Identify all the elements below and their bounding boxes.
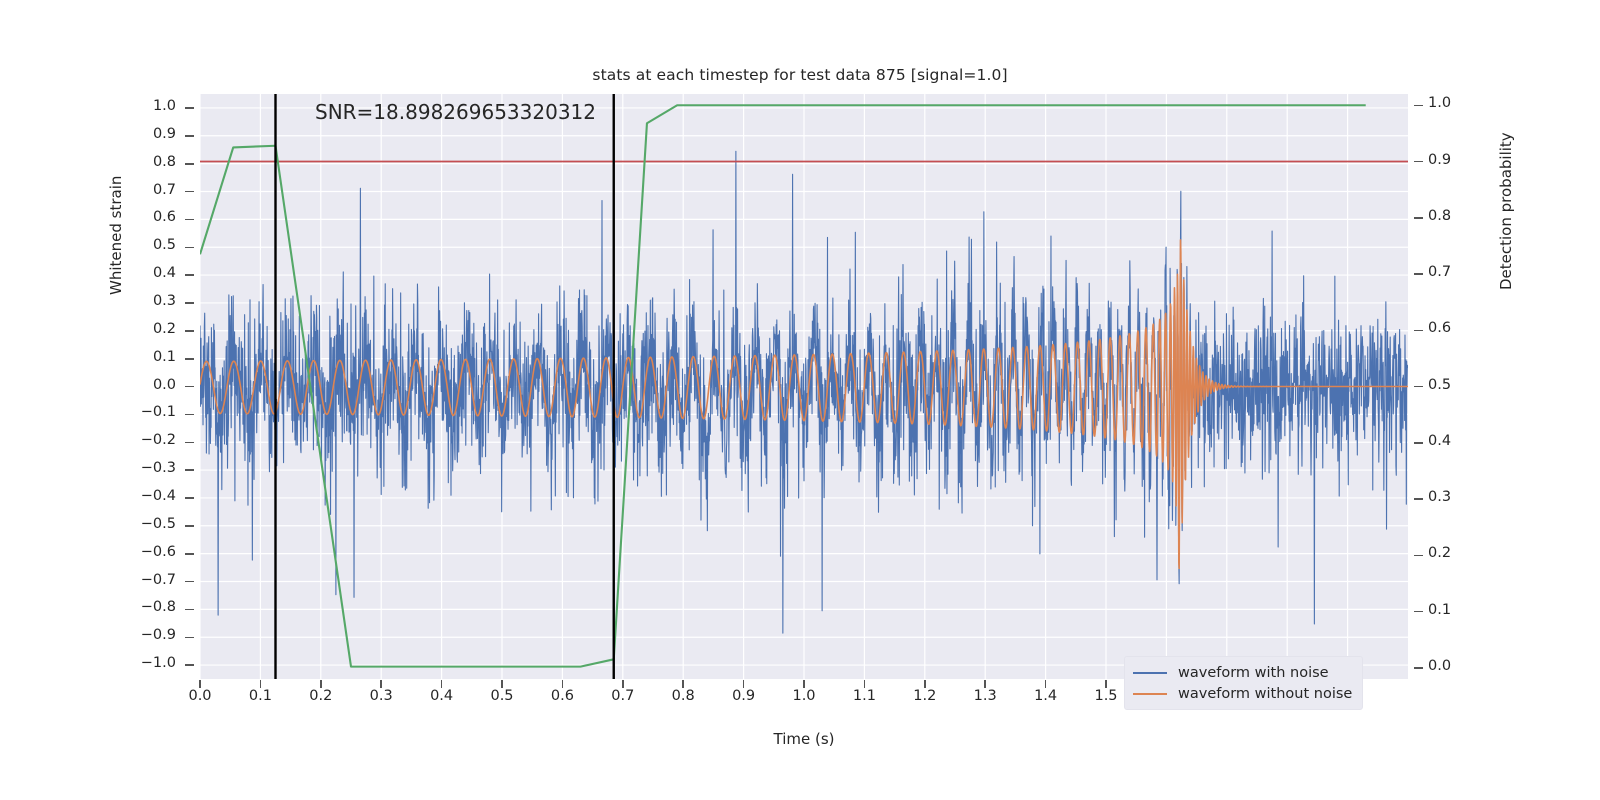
y-axis-left-tick-label: −0.4 <box>120 488 176 504</box>
y-axis-left-tick-label: 1.0 <box>120 98 176 114</box>
snr-annotation: SNR=18.898269653320312 <box>315 100 596 124</box>
y-axis-left-tickmark <box>185 609 194 611</box>
y-axis-right-tickmark <box>1414 161 1423 163</box>
x-axis-tickmark <box>501 680 503 688</box>
x-axis-tick-label: 0.9 <box>714 688 774 704</box>
legend: waveform with noisewaveform without nois… <box>1124 656 1363 710</box>
y-axis-left-tickmark <box>185 135 194 137</box>
y-axis-left-tick-label: 0.6 <box>120 209 176 225</box>
y-axis-left-tickmark <box>185 497 194 499</box>
y-axis-left-tick-label: −1.0 <box>120 655 176 671</box>
y-axis-left-tickmark <box>185 302 194 304</box>
y-axis-right-tick-label: 0.8 <box>1428 208 1451 224</box>
x-axis-tickmark <box>1105 680 1107 688</box>
x-axis-tickmark <box>743 680 745 688</box>
y-axis-right-tickmark <box>1414 273 1423 275</box>
y-axis-left-tickmark <box>185 469 194 471</box>
y-axis-left-tick-label: −0.6 <box>120 544 176 560</box>
x-axis-tickmark <box>380 680 382 688</box>
x-axis-tickmark <box>199 680 201 688</box>
x-axis-label: Time (s) <box>200 730 1408 748</box>
y-axis-left-tickmark <box>185 219 194 221</box>
y-axis-left-tick-label: −0.2 <box>120 432 176 448</box>
y-axis-right-tick-label: 0.1 <box>1428 602 1451 618</box>
plot-svg <box>200 94 1408 679</box>
y-axis-left-tickmark <box>185 247 194 249</box>
plot-figure: stats at each timestep for test data 875… <box>0 0 1600 800</box>
y-axis-left-tick-label: −0.5 <box>120 516 176 532</box>
x-axis-tickmark <box>320 680 322 688</box>
x-axis-tick-label: 1.2 <box>895 688 955 704</box>
y-axis-left-tickmark <box>185 664 194 666</box>
y-axis-left-tickmark <box>185 107 194 109</box>
y-axis-right-tick-label: 0.2 <box>1428 545 1451 561</box>
y-axis-left-tick-label: −0.8 <box>120 599 176 615</box>
y-axis-left-tickmark <box>185 525 194 527</box>
y-axis-left-tickmark <box>185 414 194 416</box>
y-axis-left-tick-label: 0.2 <box>120 321 176 337</box>
y-axis-right-tick-label: 0.0 <box>1428 658 1451 674</box>
y-axis-left-tick-label: 0.7 <box>120 182 176 198</box>
legend-color-swatch <box>1133 693 1167 695</box>
y-axis-right-tick-label: 0.7 <box>1428 264 1451 280</box>
x-axis-tick-label: 0.1 <box>230 688 290 704</box>
y-axis-right-tick-label: 0.4 <box>1428 433 1451 449</box>
x-axis-tick-label: 0.0 <box>170 688 230 704</box>
y-axis-right-tick-label: 0.6 <box>1428 320 1451 336</box>
y-axis-left-tick-label: 0.3 <box>120 293 176 309</box>
y-axis-right-label: Detection probability <box>1497 132 1515 290</box>
y-axis-left-tick-label: −0.7 <box>120 572 176 588</box>
y-axis-right-tickmark <box>1414 217 1423 219</box>
x-axis-tickmark <box>984 680 986 688</box>
x-axis-tickmark <box>803 680 805 688</box>
y-axis-right-tickmark <box>1414 611 1423 613</box>
x-axis-tick-label: 0.7 <box>593 688 653 704</box>
x-axis-tick-label: 0.2 <box>291 688 351 704</box>
x-axis-tickmark <box>562 680 564 688</box>
y-axis-left-tick-label: 0.0 <box>120 377 176 393</box>
x-axis-tick-label: 1.4 <box>1016 688 1076 704</box>
y-axis-left-tickmark <box>185 386 194 388</box>
y-axis-left-tickmark <box>185 553 194 555</box>
x-axis-tickmark <box>260 680 262 688</box>
x-axis-tickmark <box>622 680 624 688</box>
x-axis-tick-label: 0.3 <box>351 688 411 704</box>
x-axis-tick-label: 0.8 <box>653 688 713 704</box>
y-axis-left-tick-label: 0.1 <box>120 349 176 365</box>
y-axis-left-tickmark <box>185 163 194 165</box>
x-axis-tickmark <box>864 680 866 688</box>
x-axis-tickmark <box>441 680 443 688</box>
y-axis-right-tick-label: 1.0 <box>1428 95 1451 111</box>
x-axis-tick-label: 1.3 <box>955 688 1015 704</box>
y-axis-left-tick-label: 0.8 <box>120 154 176 170</box>
y-axis-right-tickmark <box>1414 498 1423 500</box>
y-axis-left-tick-label: 0.4 <box>120 265 176 281</box>
y-axis-left-tickmark <box>185 637 194 639</box>
y-axis-left-tickmark <box>185 191 194 193</box>
y-axis-right-tickmark <box>1414 105 1423 107</box>
legend-color-swatch <box>1133 672 1167 674</box>
y-axis-left-tickmark <box>185 274 194 276</box>
y-axis-right-tick-label: 0.9 <box>1428 152 1451 168</box>
x-axis-tick-label: 1.0 <box>774 688 834 704</box>
x-axis-tick-label: 1.1 <box>834 688 894 704</box>
y-axis-left-tick-label: −0.1 <box>120 404 176 420</box>
y-axis-right-tickmark <box>1414 330 1423 332</box>
y-axis-left-tick-label: 0.5 <box>120 237 176 253</box>
y-axis-right-tickmark <box>1414 442 1423 444</box>
x-axis-tick-label: 0.6 <box>532 688 592 704</box>
y-axis-left-tick-label: 0.9 <box>120 126 176 142</box>
legend-item-label: waveform with noise <box>1178 665 1329 681</box>
y-axis-right-tick-label: 0.3 <box>1428 489 1451 505</box>
x-axis-tick-label: 0.5 <box>472 688 532 704</box>
legend-item[interactable]: waveform with noise <box>1133 662 1352 683</box>
y-axis-right-tick-label: 0.5 <box>1428 377 1451 393</box>
plot-canvas <box>200 94 1408 679</box>
legend-item-label: waveform without noise <box>1178 686 1352 702</box>
y-axis-left-tick-label: −0.9 <box>120 627 176 643</box>
y-axis-right-tickmark <box>1414 667 1423 669</box>
y-axis-left-tickmark <box>185 442 194 444</box>
x-axis-tickmark <box>682 680 684 688</box>
y-axis-left-tickmark <box>185 581 194 583</box>
x-axis-tickmark <box>924 680 926 688</box>
x-axis-tickmark <box>1045 680 1047 688</box>
legend-item[interactable]: waveform without noise <box>1133 683 1352 704</box>
y-axis-right-tickmark <box>1414 555 1423 557</box>
y-axis-right-tickmark <box>1414 386 1423 388</box>
x-axis-tick-label: 0.4 <box>412 688 472 704</box>
y-axis-left-tickmark <box>185 358 194 360</box>
y-axis-left-tickmark <box>185 330 194 332</box>
y-axis-left-tick-label: −0.3 <box>120 460 176 476</box>
y-axis-left-label: Whitened strain <box>107 176 125 295</box>
page-title: stats at each timestep for test data 875… <box>0 66 1600 84</box>
